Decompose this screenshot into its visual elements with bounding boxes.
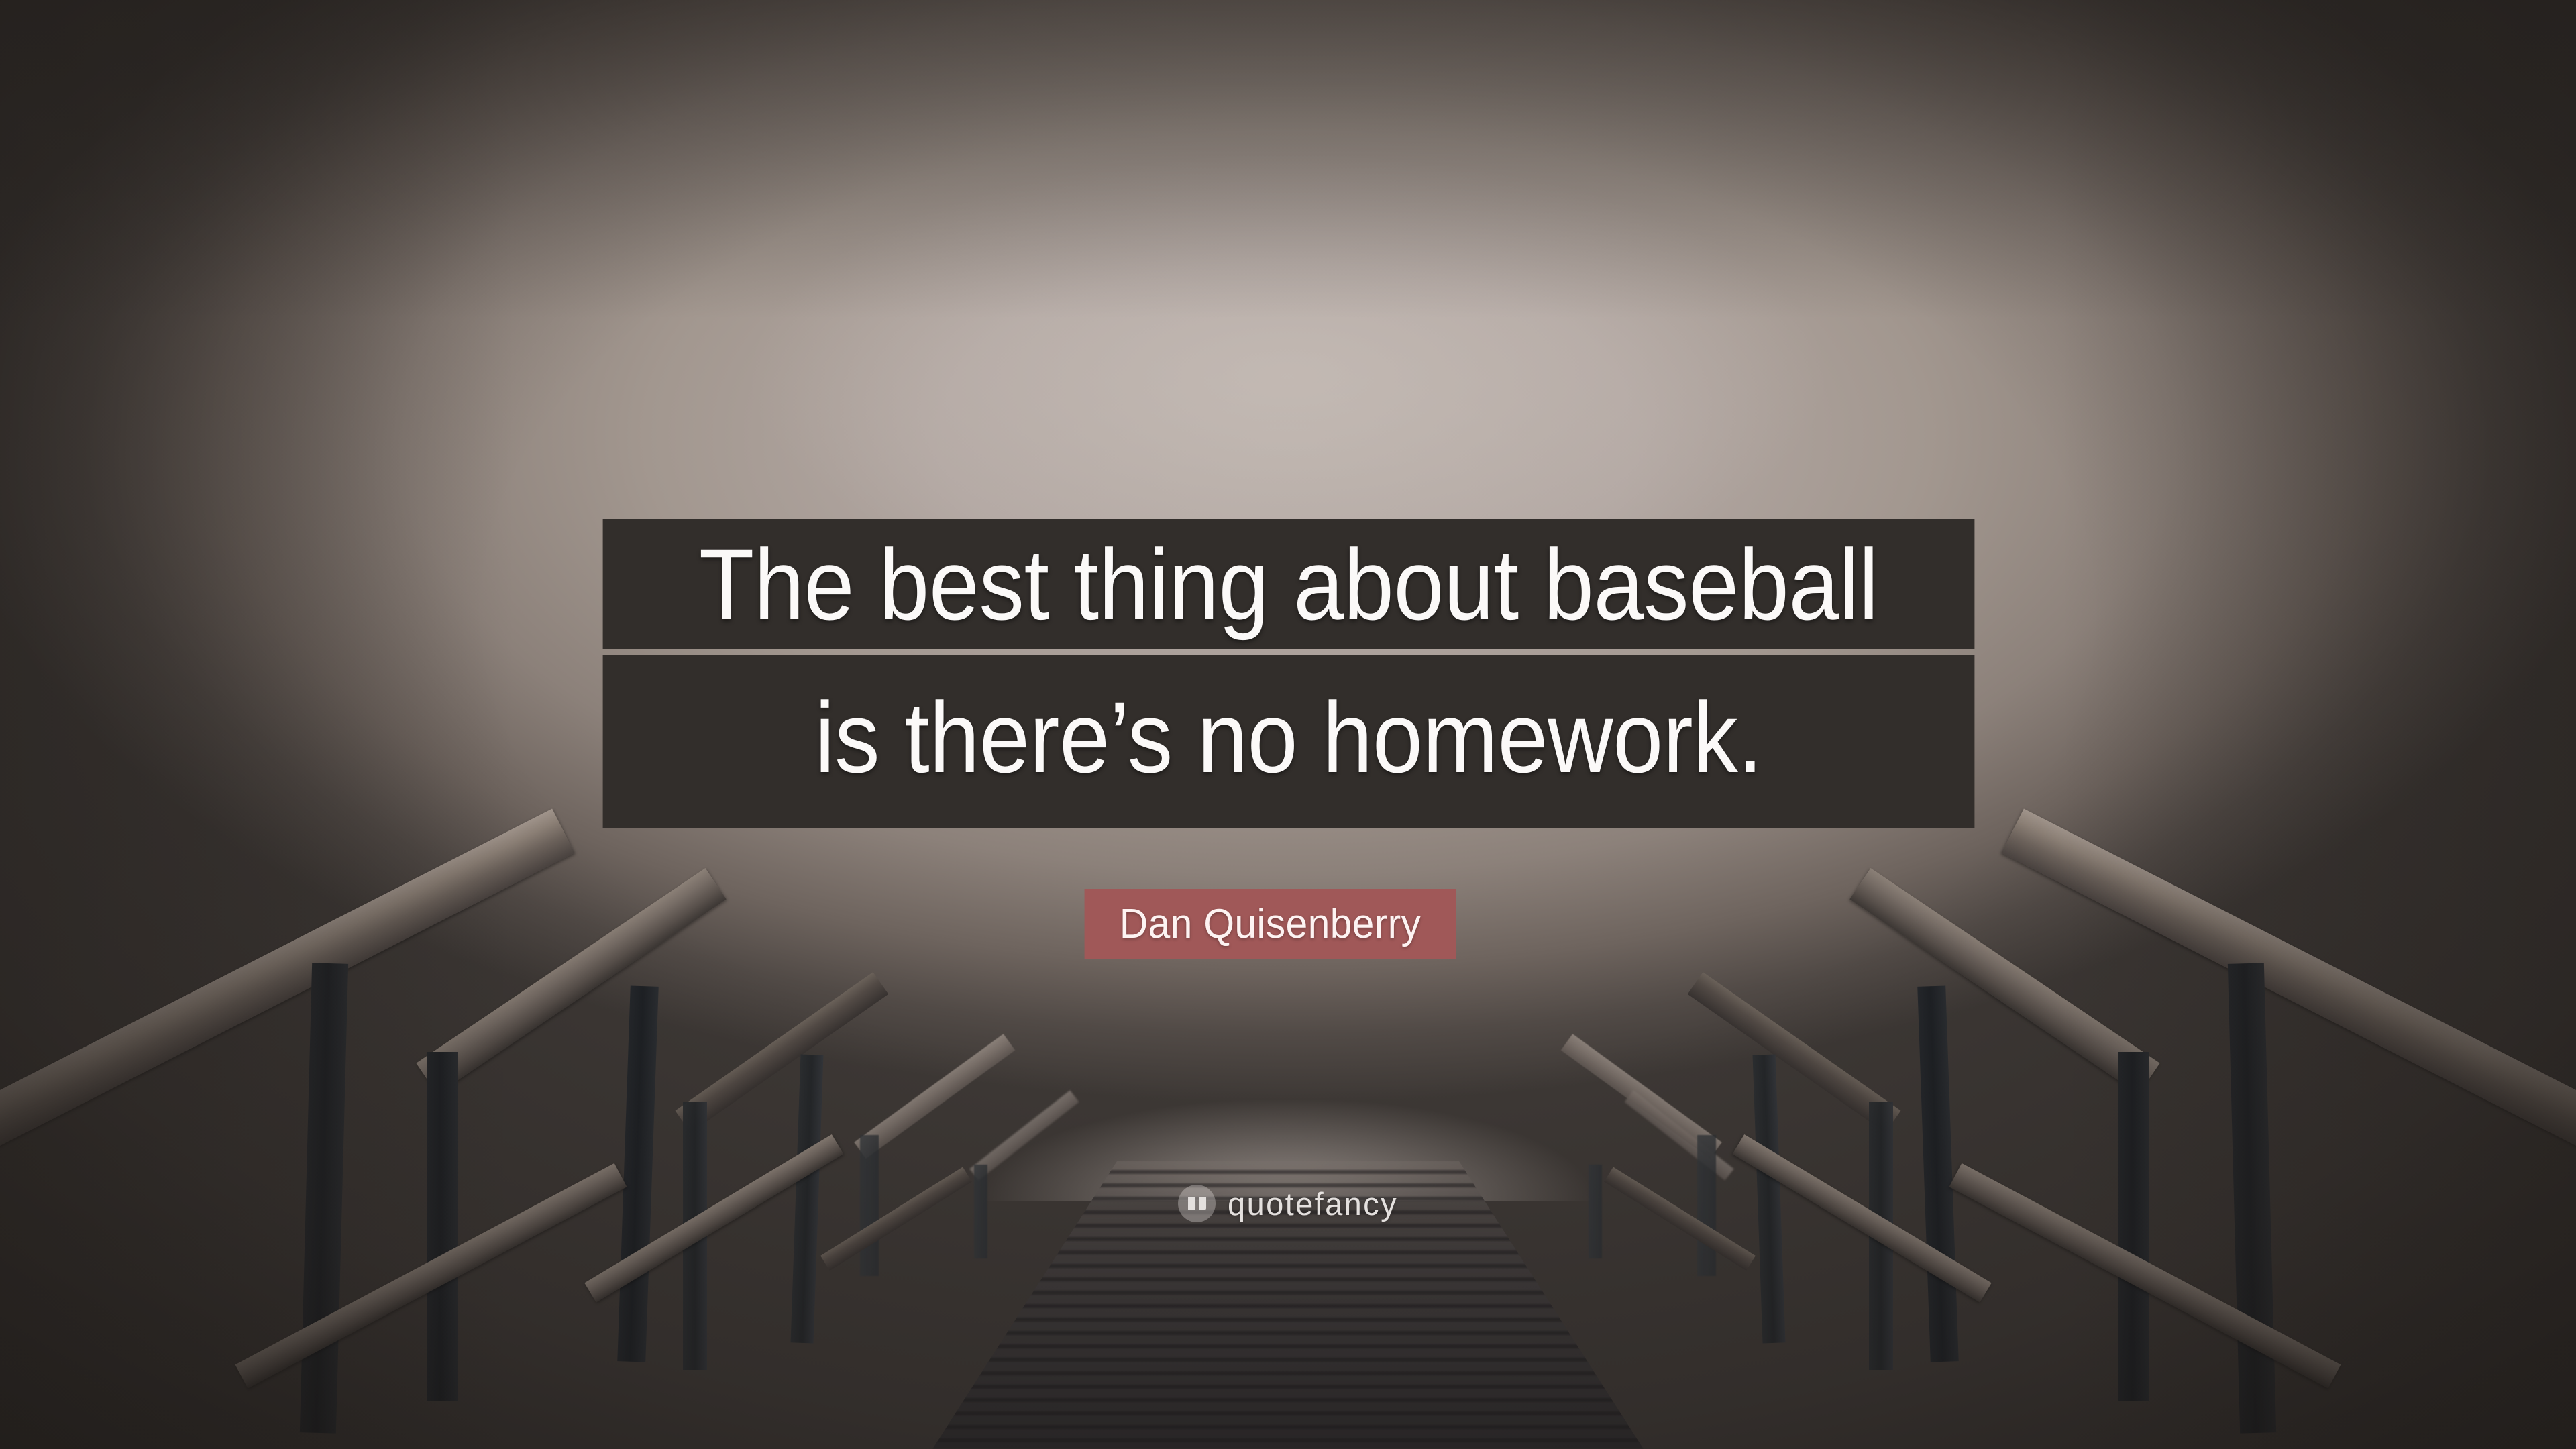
quote-mark-glyph-left xyxy=(1188,1197,1195,1210)
quote-mark-icon xyxy=(1178,1185,1216,1222)
quote-block: The best thing about baseball is there’s… xyxy=(527,519,2051,828)
quote-line-2: is there’s no homework. xyxy=(603,655,1975,828)
quote-mark-glyph-right xyxy=(1199,1197,1206,1210)
author-badge: Dan Quisenberry xyxy=(1085,889,1456,959)
wallpaper-canvas: The best thing about baseball is there’s… xyxy=(0,0,2576,1449)
watermark[interactable]: quotefancy xyxy=(1178,1185,1398,1222)
quote-line-1: The best thing about baseball xyxy=(603,519,1975,649)
watermark-brand-label: quotefancy xyxy=(1228,1185,1398,1222)
quote-band-divider xyxy=(527,649,2051,655)
